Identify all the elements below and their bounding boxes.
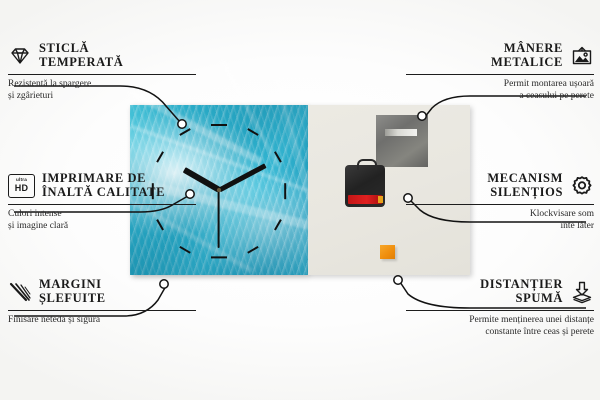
callout-title: DISTANȚIER SPUMĂ [480, 278, 563, 305]
callout-polished-edges: MARGINI ȘLEFUITE Finisare netedă și sigu… [8, 278, 196, 327]
leader-endpoint-spacer [394, 276, 402, 284]
battery-part [348, 195, 382, 204]
callout-title: IMPRIMARE DE ÎNALTĂ CALITATE [42, 172, 165, 199]
picture-hanger-icon [570, 44, 594, 68]
metal-hanger-part [376, 115, 428, 167]
callout-title: MECANISM SILENȚIOS [487, 172, 563, 199]
callout-header: MARGINI ȘLEFUITE [8, 278, 196, 305]
callout-metal-handles: MÂNERE METALICE Permit montarea ușoară a… [406, 42, 594, 102]
quartz-movement-part [345, 165, 385, 207]
callout-subtitle: Permit montarea ușoară a ceasului pe per… [406, 79, 594, 102]
ultra-hd-bottom-label: HD [15, 184, 28, 193]
callout-high-quality-print: ultra HD IMPRIMARE DE ÎNALTĂ CALITATE Cu… [8, 172, 196, 232]
callout-title: MARGINI ȘLEFUITE [39, 278, 106, 305]
polished-edges-icon [8, 280, 32, 304]
battery-terminal [378, 196, 383, 203]
callout-header: MECANISM SILENȚIOS [406, 172, 594, 199]
clock-second-hand [218, 190, 220, 248]
callout-subtitle: Finisare netedă și sigură [8, 315, 196, 327]
ultra-hd-icon: ultra HD [8, 174, 35, 198]
callout-rule [406, 74, 594, 75]
callout-foam-spacer: DISTANȚIER SPUMĂ Permite menținerea unei… [406, 278, 594, 338]
clock-tick [211, 124, 227, 126]
callout-rule [8, 204, 196, 205]
callout-rule [8, 310, 196, 311]
callout-rule [406, 310, 594, 311]
callout-rule [8, 74, 196, 75]
clock-tick [284, 183, 286, 199]
movement-hook [357, 159, 377, 170]
callout-subtitle: Culori intense și imagine clară [8, 209, 196, 232]
callout-silent-mechanism: MECANISM SILENȚIOS Klockvisare som inte … [406, 172, 594, 232]
clock-tick [211, 256, 227, 258]
callout-header: DISTANȚIER SPUMĂ [406, 278, 594, 305]
clock-center-pivot [217, 188, 221, 192]
callout-title: MÂNERE METALICE [491, 42, 563, 69]
infographic-canvas: STICLĂ TEMPERATĂ Rezistentă la spargere … [0, 0, 600, 400]
hanger-slot [385, 129, 417, 136]
callout-header: MÂNERE METALICE [406, 42, 594, 69]
foam-spacer-part [380, 245, 395, 259]
callout-header: STICLĂ TEMPERATĂ [8, 42, 196, 69]
callout-title: STICLĂ TEMPERATĂ [39, 42, 123, 69]
callout-subtitle: Permite menținerea unei distanțe constan… [406, 315, 594, 338]
arrow-down-layer-icon [570, 280, 594, 304]
callout-tempered-glass: STICLĂ TEMPERATĂ Rezistentă la spargere … [8, 42, 196, 102]
diamond-icon [8, 44, 32, 68]
callout-subtitle: Klockvisare som inte låter [406, 209, 594, 232]
gear-icon [570, 174, 594, 198]
callout-subtitle: Rezistentă la spargere și zgârieturi [8, 79, 196, 102]
callout-rule [406, 204, 594, 205]
callout-header: ultra HD IMPRIMARE DE ÎNALTĂ CALITATE [8, 172, 196, 199]
